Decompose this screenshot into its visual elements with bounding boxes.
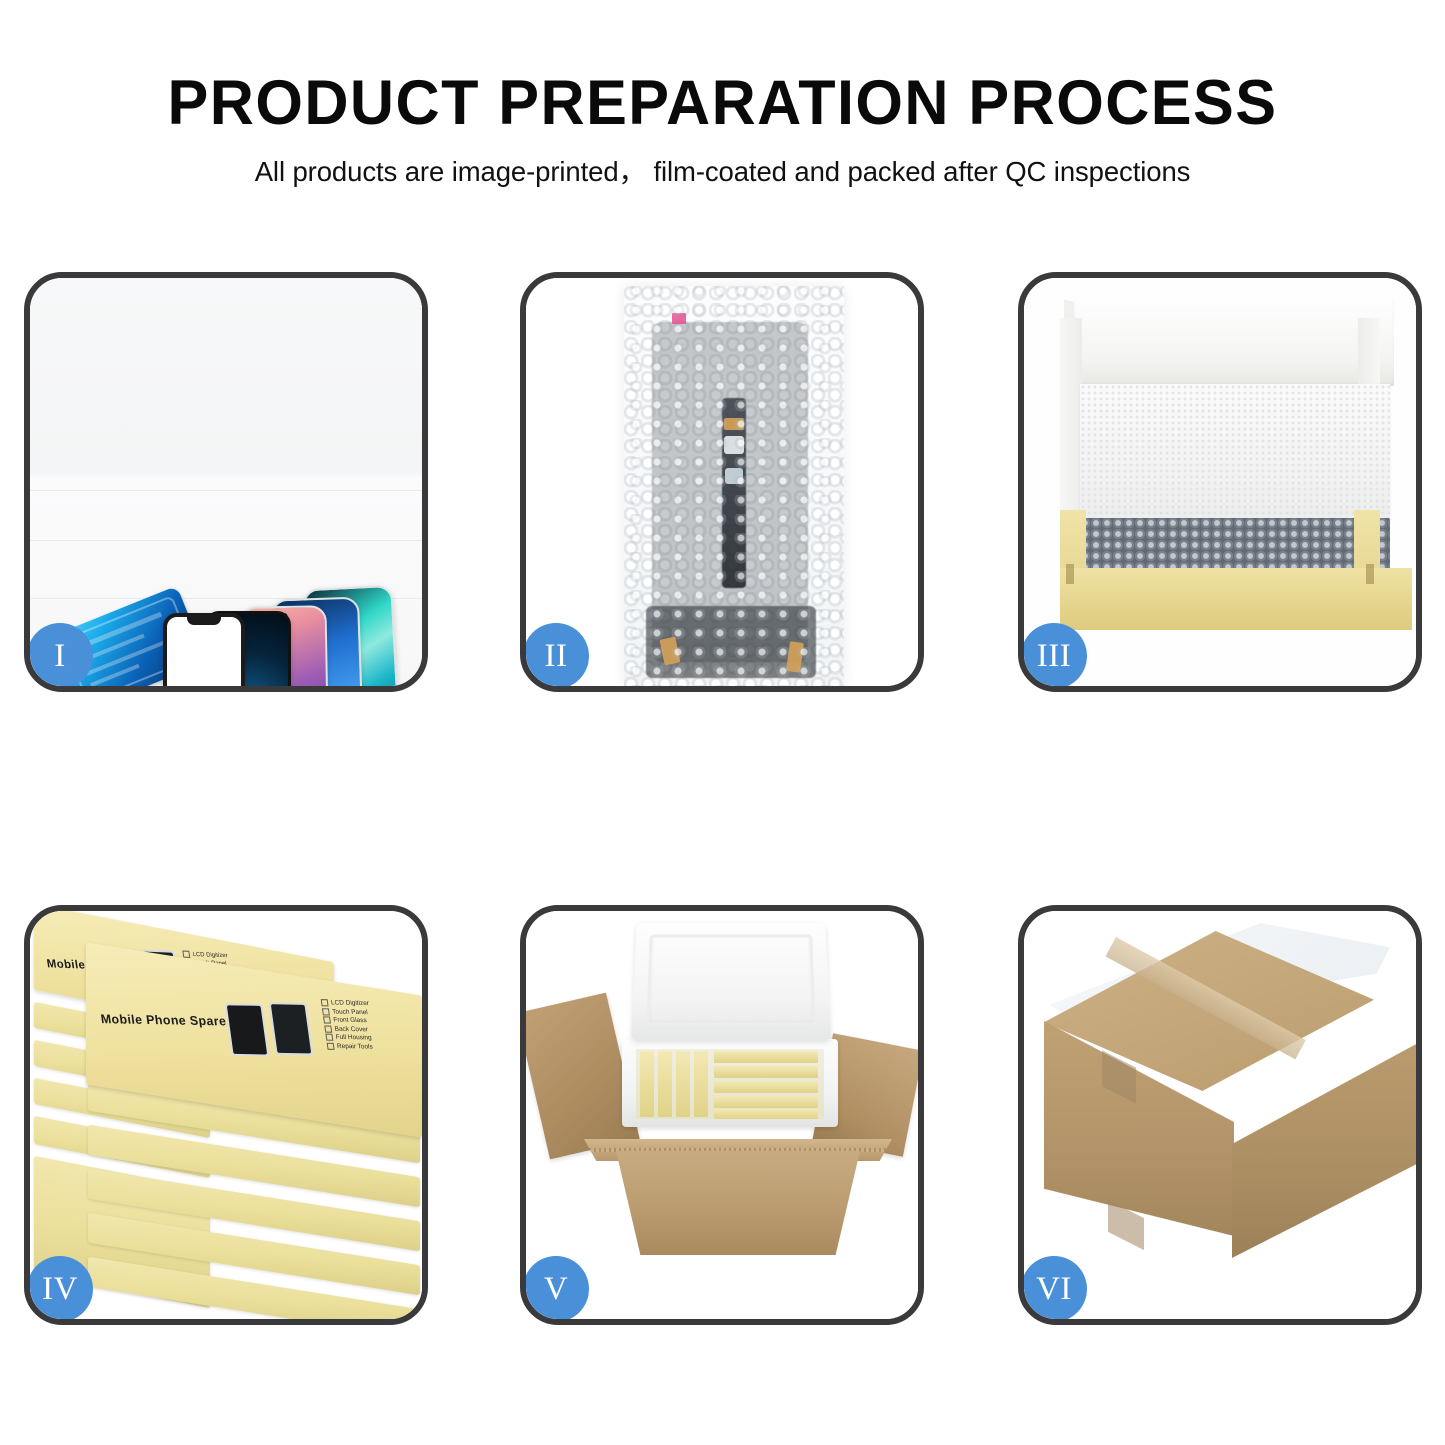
box-notch-right bbox=[1366, 564, 1374, 584]
styrofoam-cooler-lid bbox=[631, 923, 830, 1040]
bubble-texture-overlay bbox=[624, 286, 844, 686]
box-lid-open bbox=[1074, 300, 1394, 386]
packed-box-5 bbox=[714, 1051, 818, 1063]
page-subtitle: All products are image-printed， film-coa… bbox=[0, 158, 1445, 186]
checklist-item: LCD Digitizer bbox=[331, 999, 370, 1007]
box-front-panel-yellow bbox=[1060, 568, 1412, 630]
checklist-item: Front Glass bbox=[333, 1017, 367, 1025]
packed-box-8 bbox=[714, 1096, 818, 1108]
retail-box-checklist-front: LCD Digitizer Touch Panel Front Glass Ba… bbox=[321, 999, 376, 1051]
cooler-contents bbox=[636, 1049, 824, 1119]
step-badge-4: IV bbox=[30, 1256, 93, 1319]
retail-box-thumb-front-1 bbox=[225, 1003, 270, 1056]
packed-box-7 bbox=[714, 1081, 818, 1093]
step-panel-5: V bbox=[520, 905, 924, 1325]
header: PRODUCT PREPARATION PROCESS All products… bbox=[0, 0, 1445, 215]
packed-box-3 bbox=[676, 1051, 690, 1117]
step-4-image: Mobile Phone Spare Parts LCD Digitizer T… bbox=[30, 911, 422, 1319]
packed-box-2 bbox=[658, 1051, 672, 1117]
step-6-image: VI bbox=[1024, 911, 1416, 1319]
packed-box-9 bbox=[714, 1109, 818, 1119]
step-panel-1: 08:08 Mon 16 bbox=[24, 272, 428, 692]
front-glass-panel bbox=[163, 613, 245, 686]
packed-box-4 bbox=[694, 1051, 708, 1117]
step-badge-3: III bbox=[1024, 623, 1087, 686]
packed-box-1 bbox=[640, 1051, 654, 1117]
checklist-item: Repair Tools bbox=[337, 1042, 374, 1050]
checklist-item: LCD Digitizer bbox=[192, 951, 228, 958]
step-2-image: II bbox=[526, 278, 918, 686]
step-3-image: III bbox=[1024, 278, 1416, 686]
checklist-item: Touch Panel bbox=[332, 1008, 368, 1016]
bubble-wrap-bag bbox=[624, 286, 844, 686]
styrofoam-cooler-body bbox=[622, 1039, 838, 1127]
checklist-item: Back Cover bbox=[334, 1025, 368, 1033]
step-panel-2: II bbox=[520, 272, 924, 692]
box-wall-left bbox=[1060, 318, 1082, 530]
step-panel-6: VI bbox=[1018, 905, 1422, 1325]
carton-front-panel bbox=[616, 1151, 860, 1255]
white-foam-sheet bbox=[1080, 384, 1390, 524]
retail-box-thumb-front-2 bbox=[269, 1002, 314, 1055]
checklist-item: Full Housing bbox=[335, 1034, 372, 1042]
box-notch-left bbox=[1066, 564, 1074, 584]
packed-box-6 bbox=[714, 1066, 818, 1078]
page-title: PRODUCT PREPARATION PROCESS bbox=[22, 72, 1424, 135]
step-badge-5: V bbox=[526, 1256, 589, 1319]
step-panel-4: Mobile Phone Spare Parts LCD Digitizer T… bbox=[24, 905, 428, 1325]
step-badge-1: I bbox=[30, 623, 93, 686]
grey-bubble-wrap-layer bbox=[1080, 518, 1390, 572]
step-panel-3: III bbox=[1018, 272, 1422, 692]
step-badge-2: II bbox=[526, 623, 589, 686]
step-1-image: 08:08 Mon 16 bbox=[30, 278, 422, 686]
step-badge-6: VI bbox=[1024, 1256, 1087, 1319]
step-5-image: V bbox=[526, 911, 918, 1319]
